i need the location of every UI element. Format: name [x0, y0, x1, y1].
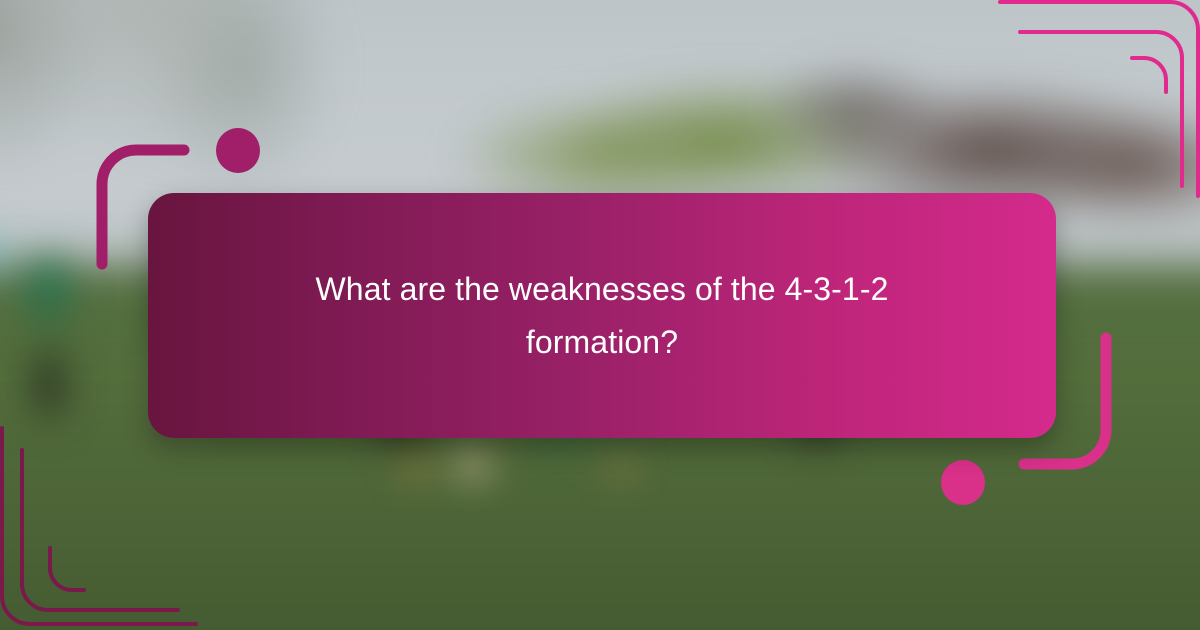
bottom-right-dot	[941, 460, 985, 505]
question-text: What are the weaknesses of the 4-3-1-2 f…	[252, 263, 952, 369]
top-left-dot	[216, 128, 260, 173]
question-card: What are the weaknesses of the 4-3-1-2 f…	[148, 193, 1056, 438]
share-card-canvas: What are the weaknesses of the 4-3-1-2 f…	[0, 0, 1200, 630]
